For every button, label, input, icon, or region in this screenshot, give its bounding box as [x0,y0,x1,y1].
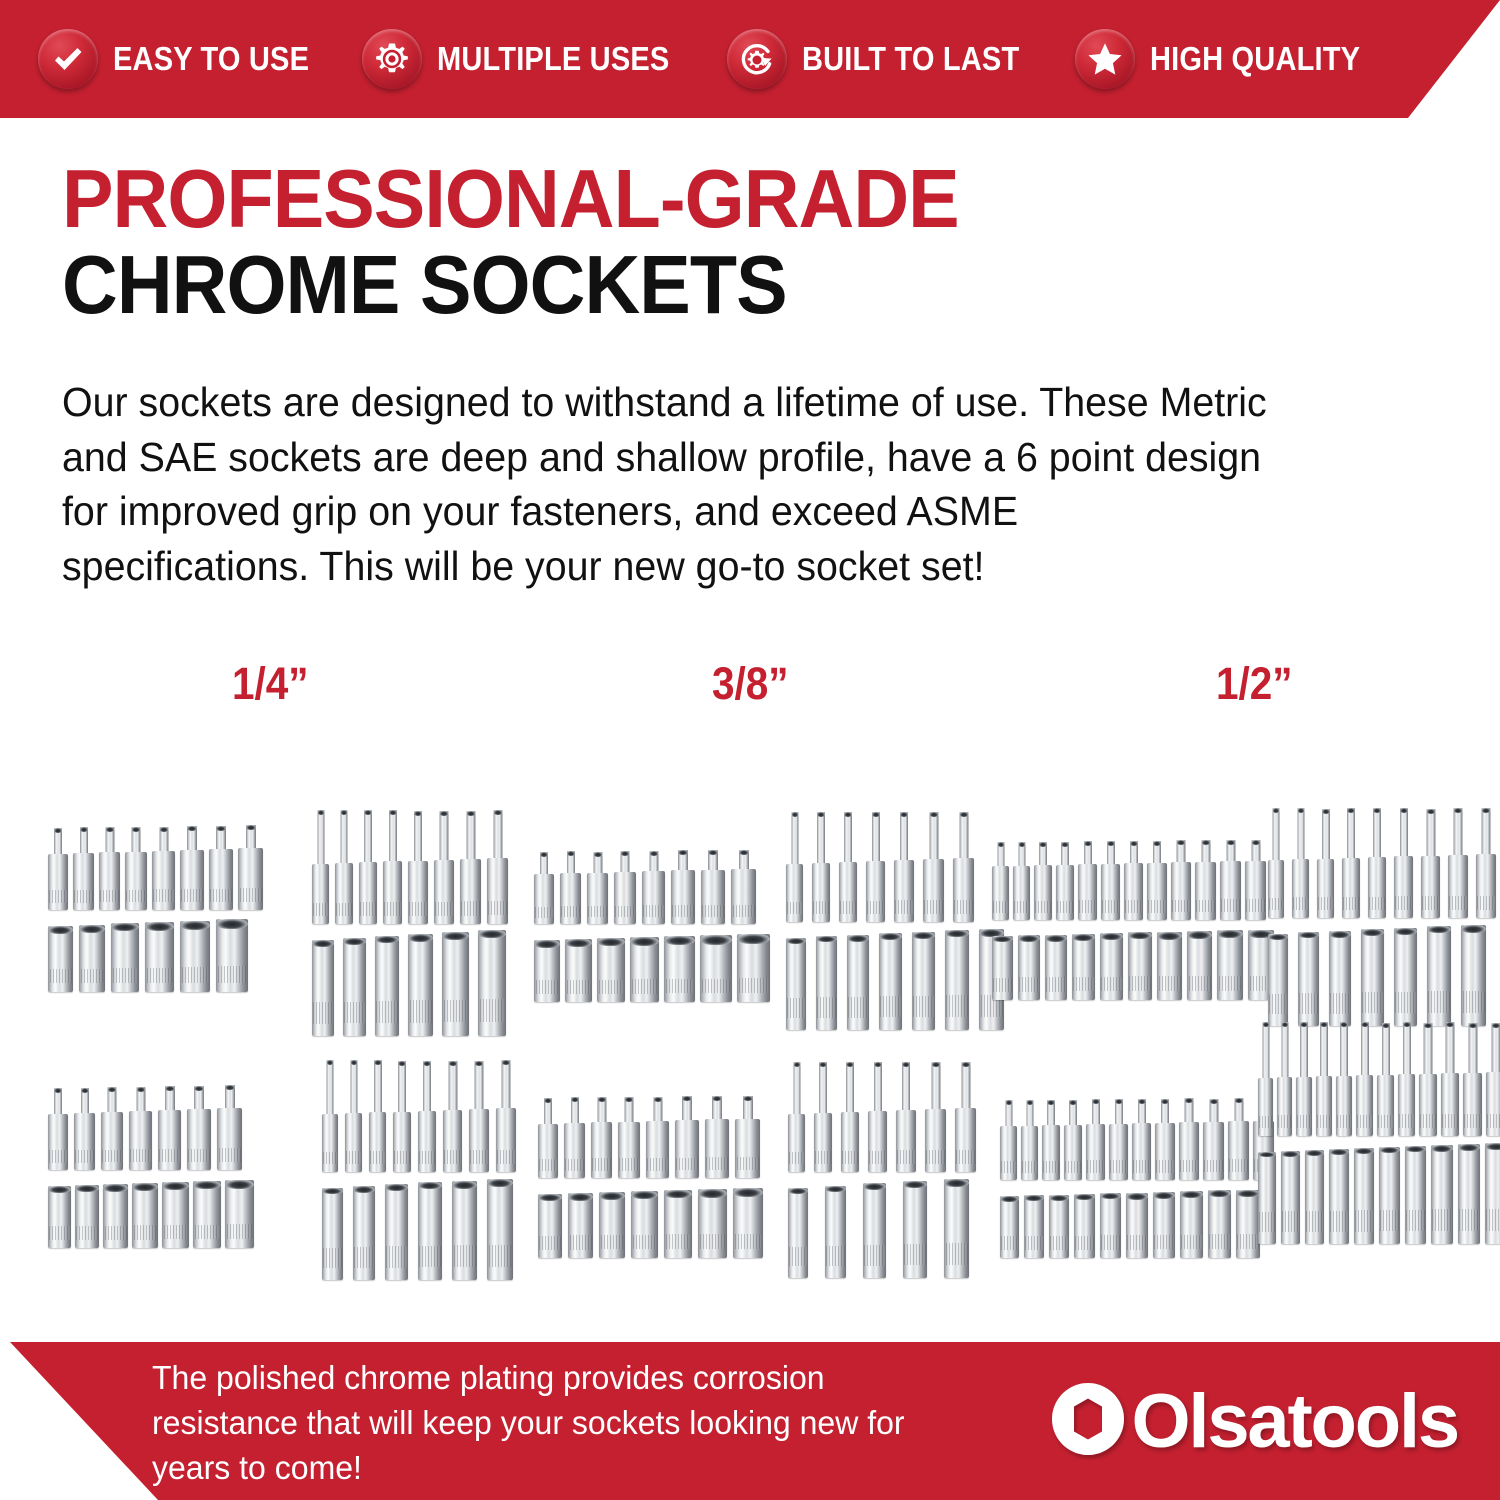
socket-opening [493,810,502,815]
socket [1064,1100,1082,1180]
socket [1124,841,1143,920]
socket-neck [1454,808,1463,861]
socket-body [1361,929,1384,1026]
socket-body [1305,1150,1324,1244]
socket-opening [788,1188,808,1194]
socket-row-lower [322,1188,516,1280]
socket-opening [1100,1193,1121,1199]
socket-body [1018,935,1040,1000]
socket-body [187,1109,211,1170]
socket-opening [793,1062,800,1067]
socket [630,937,659,1002]
socket-opening [136,1087,145,1092]
socket-body [1049,1195,1069,1258]
socket-opening [1130,841,1138,846]
socket [408,811,428,924]
socket-body [925,1109,946,1172]
socket-neck [374,1060,382,1118]
socket-row-lower [48,926,263,992]
socket [646,1097,669,1178]
socket [418,1182,442,1280]
socket-group-three-eighth-shallow-sae [538,1098,763,1258]
socket-body [565,939,592,1002]
socket-opening [180,921,210,930]
socket-row-lower [48,1186,254,1248]
socket [193,1181,221,1248]
brand-logo: Olsatools [1047,1378,1458,1465]
socket [1128,932,1152,1000]
socket [1292,808,1309,918]
socket-opening [912,932,935,939]
socket [125,827,147,910]
socket [944,1179,969,1278]
socket [1329,931,1351,1026]
socket-body [1448,855,1468,918]
socket [992,936,1013,1000]
socket-body [487,1179,513,1280]
socket-opening [1329,1149,1349,1155]
socket-opening [844,812,852,817]
socket [385,1184,408,1280]
socket-group-half-inch-deep-metric [1268,808,1496,1026]
socket-opening [132,827,141,832]
socket [1461,925,1486,1026]
socket-neck [793,1062,800,1120]
socket [839,812,857,922]
socket [534,852,554,924]
socket-neck [959,812,968,864]
socket-opening [863,1183,886,1190]
socket-body [1329,931,1351,1026]
socket-body [369,1112,386,1172]
socket-opening [440,811,449,816]
socket-neck [791,812,798,870]
socket-opening [1405,1146,1426,1152]
socket-body [343,938,366,1036]
socket-opening [132,1183,158,1191]
socket-opening [599,1192,625,1200]
socket-body [383,861,402,924]
socket-opening [1251,840,1260,845]
socket-opening [105,827,114,832]
socket-opening [1361,929,1384,936]
socket [1228,1098,1249,1180]
socket-body [418,1182,442,1280]
socket-body [737,934,770,1002]
socket-opening [414,811,422,816]
socket-body [1461,925,1486,1026]
socket-body [1126,1193,1148,1258]
socket [1000,1100,1017,1180]
socket [1157,932,1182,1000]
socket-body [587,873,608,924]
brand-wordmark: Olsatools [1131,1384,1458,1460]
socket-opening [1100,933,1123,940]
socket-body [538,1124,558,1178]
socket [312,810,329,924]
socket-opening [478,930,506,938]
socket-opening [1217,930,1243,938]
socket-opening [1354,1148,1374,1154]
socket-body [225,1180,254,1248]
socket-opening [1201,840,1210,845]
socket [1179,1098,1199,1180]
socket-body [735,1119,760,1178]
socket-opening [534,940,560,948]
socket [587,852,608,924]
socket-body [1072,934,1095,1000]
socket-body [733,1188,763,1258]
socket-opening [1300,1022,1308,1027]
socket-group-quarter-inch-deep-metric [312,810,508,1036]
socket [312,940,334,1036]
socket-opening [1024,1195,1044,1201]
socket-opening [48,1186,71,1193]
socket [1074,1194,1095,1258]
socket-opening [712,1096,722,1101]
socket-opening [1340,1022,1348,1027]
headline-line-2: CHROME SOCKETS [62,243,1308,326]
socket-body [631,1191,658,1258]
socket-body [1421,856,1440,918]
socket-opening [567,851,575,856]
socket-body [1042,1125,1060,1180]
socket-body [1217,930,1243,1000]
socket-body [1463,1073,1482,1136]
socket-opening [350,1060,357,1065]
socket-opening [872,812,880,817]
socket-neck [1340,1022,1348,1082]
socket-body [786,938,806,1030]
socket-opening [398,1061,406,1066]
socket-body [599,1192,625,1258]
socket-body [700,935,732,1002]
socket-body [322,1188,343,1280]
feature-badge-2: MULTIPLE USES [362,29,701,89]
socket-opening [1026,1100,1033,1105]
socket [48,828,68,910]
socket-opening [1305,1150,1324,1156]
socket-body [322,1114,338,1172]
socket-opening [791,812,798,817]
socket [1361,929,1384,1026]
socket-body [452,1181,477,1280]
socket [217,1085,242,1170]
socket-opening [1115,1099,1123,1104]
socket-body [385,1184,408,1280]
socket-neck [475,1061,484,1115]
socket-opening [1258,1152,1276,1157]
socket [162,1182,189,1248]
socket-opening [75,1185,99,1192]
socket-body [1132,1123,1151,1180]
socket-row-upper [992,842,1274,920]
socket-body [1078,864,1097,920]
socket-opening [682,1096,692,1101]
socket-opening [487,1179,513,1187]
socket-body [1281,1151,1300,1244]
socket-opening [1482,808,1491,813]
socket-neck [1403,1022,1411,1080]
socket [912,932,935,1030]
socket [812,812,830,922]
socket-opening [664,1190,692,1198]
socket-body [568,1193,593,1258]
socket-body [614,872,636,924]
socket-body [1074,1194,1095,1258]
socket-body [75,1185,99,1248]
socket-opening [375,936,399,943]
socket [1171,840,1191,920]
socket [1258,1152,1276,1244]
socket-opening [475,1061,484,1066]
socket [591,1097,612,1178]
socket-body [180,850,204,910]
socket-opening [353,1186,375,1193]
socket [675,1096,699,1178]
socket [1377,1023,1394,1136]
socket [75,1185,99,1248]
socket-body [786,864,803,922]
socket [434,811,454,924]
socket [1277,1022,1292,1136]
socket-body [1153,1192,1175,1258]
socket-body [48,926,73,992]
socket-body [496,1108,516,1172]
socket-opening [194,1086,204,1091]
socket-opening [246,825,256,830]
socket-body [992,866,1009,920]
socket-body [129,1111,152,1170]
socket-row-upper [1258,1022,1500,1136]
socket-opening [1047,1100,1055,1105]
socket-body [408,934,433,1036]
socket-opening [565,939,592,947]
socket-opening [819,1062,827,1067]
socket-neck [1491,1023,1500,1078]
socket-neck [1300,1022,1308,1083]
socket [469,1061,489,1172]
socket-body [1187,931,1212,1000]
socket-row-upper [538,1098,763,1178]
socket-body [642,871,665,924]
socket-body [705,1119,729,1178]
socket [879,933,902,1030]
socket [1217,930,1243,1000]
socket-opening [79,925,105,933]
socket [1486,1023,1500,1136]
socket-body [1203,1122,1224,1180]
socket [1316,1022,1332,1136]
socket [1034,842,1052,920]
socket-neck [1297,808,1304,865]
socket-body [912,932,935,1030]
socket-neck [1446,1022,1455,1079]
socket-opening [1084,841,1092,846]
socket-body [534,874,554,924]
socket-opening [225,1180,254,1189]
socket [1296,1022,1312,1136]
socket [534,940,560,1002]
socket-neck [493,810,502,864]
feature-badge-3: BUILT TO LAST [727,29,1049,89]
socket [737,934,770,1002]
socket-opening [466,811,475,816]
socket-neck [350,1060,357,1119]
socket-body [944,1179,969,1278]
socket-neck [961,1062,970,1114]
socket-neck [1347,808,1355,864]
socket-body [1476,854,1496,918]
socket-opening [418,1182,442,1189]
socket-body [73,853,94,910]
socket-neck [341,810,348,869]
socket-body [564,1123,585,1178]
socket-opening [165,1086,175,1091]
socket [1236,1190,1260,1258]
socket-opening [597,938,625,946]
socket [443,1061,462,1172]
socket-body [814,1113,832,1172]
socket [1431,1145,1453,1244]
socket-body [879,933,902,1030]
socket-body [560,873,581,924]
socket-opening [847,935,869,942]
socket-row-upper [534,852,770,924]
socket-body [1379,1147,1400,1244]
socket-body [1155,1123,1175,1180]
socket [99,827,120,910]
socket-body [1258,1152,1276,1244]
socket-body [841,1112,859,1172]
socket [369,1060,386,1172]
socket-body [1021,1126,1038,1180]
socket-body [48,854,68,910]
socket [866,812,885,922]
headline-line-1: PROFESSIONAL-GRADE [62,160,1308,239]
socket-body [863,1183,886,1278]
socket-neck [1373,808,1381,863]
socket-body [1405,1146,1426,1244]
socket-opening [1273,808,1280,813]
socket-body [630,937,659,1002]
socket-opening [1382,1023,1390,1028]
socket [847,935,869,1030]
socket-body [162,1182,189,1248]
socket-body [1000,1126,1017,1180]
socket-neck [1482,808,1491,860]
socket [343,938,366,1036]
socket-body [1258,1078,1273,1136]
socket-body [345,1113,362,1172]
socket-opening [54,1088,62,1093]
socket-body [1157,932,1182,1000]
feature-badge-label: BUILT TO LAST [802,40,1019,78]
socket-opening [568,1193,593,1201]
socket-neck [844,812,852,868]
socket-opening [992,936,1013,942]
socket [48,1088,68,1170]
socket [565,939,592,1002]
socket-body [393,1112,411,1172]
socket-neck [1400,808,1408,862]
socket [1013,842,1030,920]
socket [1356,1022,1373,1136]
socket-body [101,1112,123,1170]
socket [1072,934,1095,1000]
socket [1458,1144,1480,1244]
star-icon [1075,29,1135,89]
socket-opening [225,1085,235,1090]
socket-display-area [0,770,1500,1330]
socket [1100,933,1123,1000]
socket-opening [80,827,88,832]
socket-opening [1061,842,1069,847]
feature-badge-4: HIGH QUALITY [1075,29,1389,89]
socket-opening [1427,926,1451,933]
socket-body [1277,1077,1292,1136]
socket [73,827,94,910]
socket-body [701,870,725,924]
socket-opening [997,842,1004,847]
drive-size-label-3: 1/2” [1216,658,1293,710]
socket-body [312,864,329,924]
socket-row-upper [1268,808,1496,918]
socket-body [1147,863,1167,920]
socket-neck [900,812,908,866]
socket-body [1394,928,1417,1026]
socket [48,1186,71,1248]
socket-opening [1361,1022,1369,1027]
socket-opening [1039,842,1047,847]
socket [631,1191,658,1258]
socket-opening [678,850,688,855]
socket [158,1086,181,1170]
socket-row-upper [312,810,508,924]
socket-neck [1281,1022,1288,1083]
socket-row-lower [1000,1196,1274,1258]
socket-body [1013,866,1030,920]
socket-body [1419,1074,1437,1136]
socket [487,1179,513,1280]
socket-body [1086,1124,1105,1180]
socket [945,930,969,1030]
socket-opening [1446,1022,1455,1027]
socket [460,811,481,924]
socket [788,1188,808,1278]
socket-opening [1281,1022,1288,1027]
socket [671,850,695,924]
socket-opening [945,930,969,937]
socket-group-half-inch-shallow-metric [992,842,1274,1000]
socket-body [1292,859,1309,918]
socket [538,1194,562,1258]
socket [538,1098,558,1178]
socket-body [1056,865,1074,920]
socket-opening [1491,1023,1500,1028]
socket-opening [700,935,732,945]
socket-opening [81,1088,89,1093]
socket-opening [1373,808,1381,813]
socket [1049,1195,1069,1258]
socket-opening [1297,808,1304,813]
socket-opening [108,1087,117,1092]
socket-opening [1208,1190,1231,1197]
headline-block: PROFESSIONAL-GRADE CHROME SOCKETS [62,160,1402,326]
socket [1329,1149,1349,1244]
socket [375,936,399,1036]
socket-opening [162,1182,189,1190]
